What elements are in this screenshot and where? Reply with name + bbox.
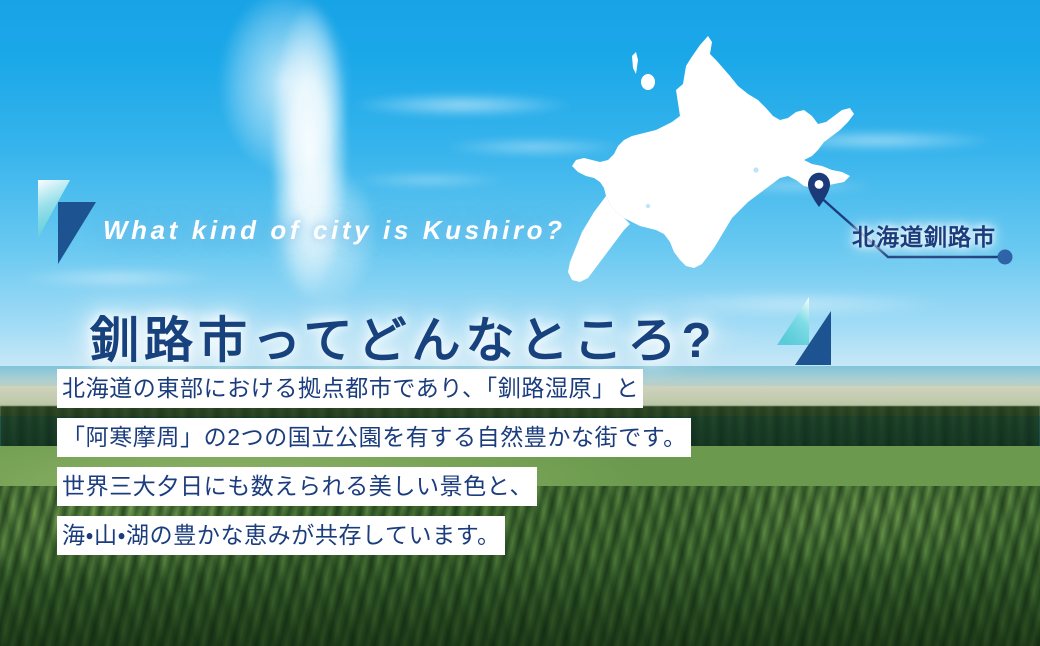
copy-line: 北海道の東部における拠点都市であり、「釧路湿原」と (57, 369, 643, 408)
map-pin-body (808, 173, 830, 207)
page-title: 釧路市ってどんなところ? (90, 301, 716, 372)
map-label-kushiro: 北海道釧路市 (852, 218, 996, 252)
kushiro-hero-banner: 北海道釧路市 What kind of city is Kushiro? 釧路市… (0, 0, 1040, 646)
body-copy: 北海道の東部における拠点都市であり、「釧路湿原」と 「阿寒摩周」の2つの国立公園… (57, 369, 757, 565)
lake-mashu (753, 167, 758, 172)
chevron-left-dark-shape (58, 202, 96, 264)
forest-shadow (0, 556, 1040, 646)
rebun-island (632, 52, 638, 74)
map-pin-hole (815, 180, 824, 189)
copy-line: 海・山・湖の豊かな恵みが共存しています。 (57, 516, 505, 555)
lake-toya (646, 204, 650, 208)
rishiri-island (641, 74, 655, 90)
chevron-right-light-shape (777, 297, 809, 345)
leader-end-dot (998, 250, 1013, 265)
eyebrow-english-heading: What kind of city is Kushiro? (103, 215, 566, 246)
chevron-decoration-left-icon (36, 176, 98, 268)
copy-line: 世界三大夕日にも数えられる美しい景色と、 (57, 467, 537, 506)
map-pin-icon (806, 172, 832, 208)
copy-line: 「阿寒摩周」の2つの国立公園を有する自然豊かな街です。 (57, 418, 691, 457)
chevron-decoration-right-icon (775, 295, 835, 367)
